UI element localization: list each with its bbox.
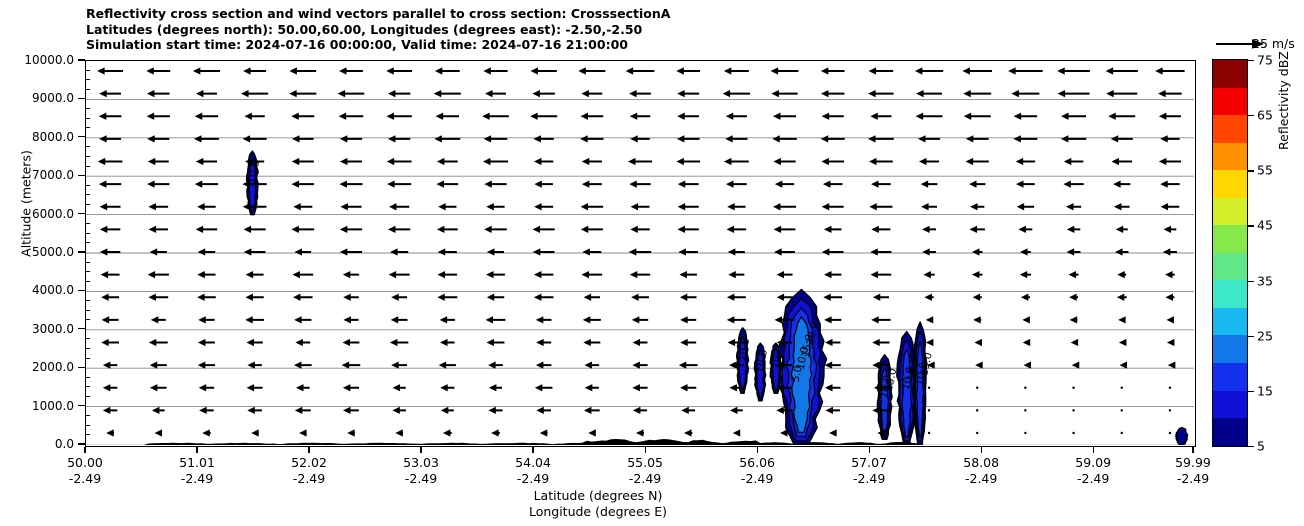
wind-vector — [684, 429, 692, 436]
colorbar-tick — [1248, 391, 1254, 392]
wind-vector — [244, 248, 266, 255]
y-tick-minor — [85, 118, 90, 119]
wind-vector — [823, 181, 843, 188]
wind-vector — [147, 90, 170, 97]
x-tick-longitude: -2.49 — [515, 471, 551, 487]
wind-vector — [915, 67, 943, 74]
wind-vector — [727, 226, 747, 233]
wind-vector — [1111, 135, 1133, 142]
colorbar-band — [1213, 253, 1247, 281]
wind-vector — [680, 294, 697, 301]
wind-vector — [822, 203, 844, 210]
colorbar-band — [1213, 391, 1247, 419]
wind-vector — [972, 248, 983, 255]
colorbar-band — [1213, 115, 1247, 143]
wind-vector — [868, 135, 894, 142]
y-tick-minor — [85, 281, 90, 282]
wind-vector — [963, 90, 991, 97]
wind-vector — [628, 158, 652, 165]
wind-vector — [343, 339, 360, 346]
wind-vector — [581, 90, 602, 97]
wind-vector — [247, 384, 263, 391]
wind-vector — [1016, 158, 1035, 165]
wind-vector — [243, 67, 266, 74]
chart-title-block: Reflectivity cross section and wind vect… — [86, 6, 1186, 53]
wind-vector — [533, 226, 555, 233]
wind-vector — [101, 339, 119, 346]
wind-vector — [147, 181, 169, 188]
wind-vector — [630, 113, 651, 120]
wind-vector — [630, 226, 649, 233]
wind-vector — [1024, 362, 1031, 369]
wind-vector — [488, 407, 502, 414]
wind-vector — [393, 384, 406, 391]
wind-vector — [241, 90, 268, 97]
wind-vector-negligible — [1121, 409, 1123, 411]
wind-vector — [631, 203, 650, 210]
x-tick-label-group: 58.08-2.49 — [963, 455, 999, 487]
wind-vector — [150, 248, 167, 255]
wind-vector — [243, 135, 267, 142]
wind-vector — [435, 67, 460, 74]
wind-vector — [578, 67, 605, 74]
y-tick-minor — [85, 242, 90, 243]
wind-vector — [387, 181, 411, 188]
wind-vector-negligible — [1169, 387, 1171, 389]
wind-vector — [677, 90, 699, 97]
wind-vector — [99, 135, 121, 142]
wind-vector — [924, 294, 933, 301]
wind-vector — [868, 90, 894, 97]
wind-vector — [292, 271, 313, 278]
wind-vector — [102, 316, 119, 323]
wind-vector — [196, 226, 218, 233]
wind-vector — [582, 158, 602, 165]
wind-vector — [534, 203, 553, 210]
colorbar-band — [1213, 88, 1247, 116]
colorbar-band — [1213, 418, 1247, 446]
wind-vector — [825, 407, 840, 414]
y-tick-minor — [85, 434, 90, 435]
wind-vector — [245, 316, 264, 323]
wind-vector — [292, 135, 314, 142]
wind-vector — [726, 113, 747, 120]
colorbar-tick — [1248, 336, 1254, 337]
wind-vector — [633, 407, 647, 414]
x-tick-label-group: 59.99-2.49 — [1175, 455, 1211, 487]
wind-vector — [1165, 271, 1175, 278]
wind-vector — [484, 181, 506, 188]
y-tick-mark — [78, 175, 85, 176]
y-tick-label: 9000.0 — [0, 91, 74, 105]
y-tick-label: 0.0 — [0, 437, 74, 451]
wind-vector — [923, 271, 934, 278]
wind-vector-negligible — [928, 409, 930, 411]
wind-vector — [340, 203, 361, 210]
wind-vector — [727, 203, 745, 210]
wind-vector — [247, 362, 261, 369]
wind-vector — [149, 339, 168, 346]
wind-vector — [98, 158, 123, 165]
wind-vector — [484, 226, 507, 233]
y-tick-mark — [78, 98, 85, 99]
wind-vector — [1016, 181, 1035, 188]
wind-vector — [198, 339, 215, 346]
y-tick-minor — [85, 425, 90, 426]
y-tick-mark — [78, 59, 85, 60]
wind-vector — [1018, 226, 1032, 233]
y-tick-minor — [85, 233, 90, 234]
wind-vector — [733, 429, 741, 436]
x-tick-longitude: -2.49 — [963, 471, 999, 487]
wind-vector — [196, 158, 217, 165]
wind-vector — [922, 248, 936, 255]
colorbar-tick-label: 5 — [1257, 438, 1265, 453]
wind-vector — [966, 158, 989, 165]
wind-vector — [825, 339, 840, 346]
x-tick-mark — [757, 447, 758, 453]
wind-vector — [1165, 294, 1174, 301]
y-tick-minor — [85, 89, 90, 90]
title-line-3: Simulation start time: 2024-07-16 00:00:… — [86, 37, 1186, 53]
wind-vector — [389, 203, 409, 210]
wind-vector — [1067, 248, 1081, 255]
y-tick-minor — [85, 70, 90, 71]
wind-vector — [389, 271, 410, 278]
wind-vector — [100, 203, 121, 210]
x-tick-mark — [1192, 447, 1193, 453]
y-tick-minor — [85, 223, 90, 224]
wind-vector — [583, 339, 600, 346]
wind-vector — [584, 407, 600, 414]
wind-vector — [343, 294, 358, 301]
x-tick-label-group: 53.03-2.49 — [403, 455, 439, 487]
wind-vector — [1115, 248, 1129, 255]
wind-vector — [386, 67, 412, 74]
wind-vector — [821, 135, 845, 142]
wind-vector — [340, 135, 362, 142]
x-tick-latitude: 59.09 — [1075, 455, 1111, 471]
x-tick-latitude: 56.06 — [739, 455, 775, 471]
x-tick-label-group: 54.04-2.49 — [515, 455, 551, 487]
x-tick-latitude: 57.07 — [851, 455, 887, 471]
y-tick-minor — [85, 185, 90, 186]
wind-vector — [535, 384, 553, 391]
y-tick-minor — [85, 319, 90, 320]
y-tick-minor — [85, 146, 90, 147]
wind-vector — [339, 181, 362, 188]
wind-vector-negligible — [1072, 432, 1074, 434]
x-tick-latitude: 55.05 — [627, 455, 663, 471]
wind-vector — [437, 294, 457, 301]
x-tick-mark — [84, 447, 85, 453]
wind-vector — [440, 384, 454, 391]
wind-vector — [487, 248, 504, 255]
y-tick-mark — [78, 213, 85, 214]
wind-vector — [869, 203, 892, 210]
y-tick-minor — [85, 348, 90, 349]
wind-vector — [151, 316, 166, 323]
wind-vector — [1020, 271, 1031, 278]
wind-vector — [1023, 339, 1031, 346]
wind-vector — [726, 181, 747, 188]
wind-vector — [148, 294, 168, 301]
wind-vector — [869, 158, 893, 165]
x-tick-label-group: 52.02-2.49 — [291, 455, 327, 487]
wind-vector — [391, 316, 408, 323]
x-tick-longitude: -2.49 — [1175, 471, 1211, 487]
wind-vector — [100, 226, 121, 233]
wind-vector — [436, 181, 458, 188]
y-tick-label: 2000.0 — [0, 360, 74, 374]
wind-vector — [1160, 181, 1180, 188]
wind-vector — [1008, 67, 1043, 74]
wind-vector-negligible — [1121, 432, 1123, 434]
wind-vector — [821, 67, 845, 74]
wind-vector — [388, 226, 410, 233]
wind-vector — [728, 248, 745, 255]
wind-vector — [195, 181, 218, 188]
colorbar-band — [1213, 170, 1247, 198]
wind-vector — [246, 339, 262, 346]
y-tick-label: 5000.0 — [0, 245, 74, 259]
wind-vector — [1119, 339, 1127, 346]
wind-vector — [1061, 135, 1086, 142]
wind-vector — [821, 90, 845, 97]
wind-vector — [916, 113, 943, 120]
wind-vector — [1167, 339, 1175, 346]
wind-vector — [482, 113, 509, 120]
wind-vector — [244, 226, 266, 233]
x-tick-mark — [196, 447, 197, 453]
wind-vector — [972, 271, 983, 278]
wind-vector — [293, 294, 313, 301]
x-tick-longitude: -2.49 — [851, 471, 887, 487]
wind-vector — [440, 316, 455, 323]
wind-vector — [391, 294, 407, 301]
wind-vector — [1106, 67, 1138, 74]
wind-vector — [193, 67, 220, 74]
title-line-1: Reflectivity cross section and wind vect… — [86, 6, 1186, 22]
colorbar-tick — [1248, 446, 1254, 447]
wind-vector — [583, 316, 601, 323]
wind-vector — [434, 90, 461, 97]
wind-vector-negligible — [976, 387, 978, 389]
wind-vector — [289, 90, 316, 97]
wind-vector — [774, 248, 795, 255]
y-tick-minor — [85, 156, 90, 157]
wind-vector — [1111, 158, 1132, 165]
x-tick-label-group: 59.09-2.49 — [1075, 455, 1111, 487]
wind-vector — [1022, 316, 1029, 323]
wind-vector — [155, 429, 163, 436]
wind-vector — [196, 90, 217, 97]
wind-vector — [197, 294, 216, 301]
wind-vector — [824, 316, 841, 323]
wind-vector — [530, 67, 556, 74]
x-tick-latitude: 58.08 — [963, 455, 999, 471]
wind-vector — [388, 135, 410, 142]
x-tick-latitude: 50.00 — [67, 455, 103, 471]
wind-vector-negligible — [1024, 387, 1026, 389]
wind-vector — [99, 90, 121, 97]
y-tick-label: 1000.0 — [0, 399, 74, 413]
wind-vector — [723, 90, 750, 97]
wind-vector — [1113, 181, 1130, 188]
wind-vector — [921, 203, 937, 210]
x-tick-mark — [532, 447, 533, 453]
wind-vector — [540, 429, 548, 436]
x-tick-mark — [420, 447, 421, 453]
x-tick-latitude: 59.99 — [1175, 455, 1211, 471]
y-tick-minor — [85, 338, 90, 339]
wind-vector — [676, 67, 700, 74]
wind-vector — [99, 113, 122, 120]
wind-vector — [533, 135, 553, 142]
wind-vector — [293, 203, 312, 210]
wind-vector — [585, 384, 599, 391]
wind-vector — [443, 429, 452, 436]
x-tick-latitude: 51.01 — [179, 455, 215, 471]
y-tick-mark — [78, 290, 85, 291]
wind-vector — [299, 429, 307, 436]
wind-vector — [347, 429, 355, 436]
wind-vector — [1116, 226, 1128, 233]
colorbar-title: Reflectivity dBZ — [1276, 0, 1291, 150]
wind-vector — [395, 429, 403, 436]
colorbar-band — [1213, 280, 1247, 308]
wind-vector — [1159, 113, 1181, 120]
wind-vector — [339, 113, 364, 120]
wind-vector — [103, 384, 117, 391]
wind-vector — [534, 294, 554, 301]
wind-vector — [1164, 226, 1177, 233]
x-tick-longitude: -2.49 — [179, 471, 215, 487]
wind-vector — [536, 407, 551, 414]
wind-vector — [632, 316, 648, 323]
wind-vector — [292, 181, 314, 188]
y-tick-minor — [85, 415, 90, 416]
wind-vector — [970, 203, 984, 210]
wind-vector — [633, 339, 648, 346]
wind-vector — [1011, 90, 1039, 97]
x-tick-longitude: -2.49 — [627, 471, 663, 487]
x-axis-label-latitude: Latitude (degrees N) — [0, 488, 1196, 503]
wind-vector — [1069, 271, 1079, 278]
wind-vector — [581, 271, 602, 278]
wind-vector — [1072, 362, 1080, 369]
wind-vector — [147, 113, 170, 120]
wind-vector — [825, 362, 841, 369]
colorbar-tick-label: 55 — [1257, 163, 1273, 178]
wind-vector — [677, 226, 698, 233]
wind-vector — [1120, 362, 1128, 369]
wind-vector-negligible — [1072, 387, 1074, 389]
wind-vector — [392, 407, 406, 414]
wind-vector — [202, 429, 210, 436]
wind-vector — [922, 226, 936, 233]
x-tick-label-group: 51.01-2.49 — [179, 455, 215, 487]
wind-vector — [873, 294, 889, 301]
wind-vector — [291, 226, 314, 233]
wind-vector — [391, 362, 407, 369]
wind-vector — [342, 362, 361, 369]
colorbar-tick-label: 35 — [1257, 273, 1273, 288]
wind-vector — [199, 384, 214, 391]
x-tick-label-group: 56.06-2.49 — [739, 455, 775, 487]
wind-vector — [387, 158, 412, 165]
reflectivity-contour-band — [1176, 428, 1188, 445]
wind-vector — [1063, 181, 1083, 188]
wind-vector — [1166, 316, 1174, 323]
wind-vector — [728, 271, 744, 278]
wind-vector — [147, 135, 169, 142]
colorbar-tick — [1248, 115, 1254, 116]
x-tick-latitude: 54.04 — [515, 455, 551, 471]
wind-vector — [773, 113, 796, 120]
wind-vector — [964, 113, 991, 120]
chart-root: Reflectivity cross section and wind vect… — [0, 0, 1304, 526]
wind-vector — [486, 271, 505, 278]
wind-vector — [725, 135, 747, 142]
wind-vector — [292, 158, 314, 165]
colorbar-gradient — [1212, 59, 1248, 447]
wind-vector — [776, 271, 792, 278]
wind-vector — [1114, 203, 1130, 210]
wind-vector — [632, 362, 647, 369]
wind-vector — [390, 339, 408, 346]
wind-vector — [1071, 339, 1079, 346]
wind-vector — [488, 362, 503, 369]
wind-vector — [340, 158, 362, 165]
wind-vector — [534, 271, 553, 278]
wind-vector — [536, 339, 551, 346]
wind-vector — [676, 158, 700, 165]
wind-vector — [534, 158, 553, 165]
wind-vector — [150, 362, 167, 369]
wind-vector — [103, 407, 118, 414]
y-tick-mark — [78, 328, 85, 329]
colorbar-tick — [1248, 60, 1254, 61]
wind-vector — [97, 67, 123, 74]
wind-vector — [1014, 113, 1037, 120]
wind-vector — [487, 339, 505, 346]
wind-vector — [246, 271, 264, 278]
wind-vector — [1159, 158, 1181, 165]
wind-vector — [632, 384, 647, 391]
y-tick-minor — [85, 386, 90, 387]
wind-vector — [388, 90, 410, 97]
wind-vector — [438, 203, 456, 210]
wind-vector — [774, 226, 796, 233]
wind-vector-negligible — [1072, 409, 1074, 411]
wind-vector — [1117, 294, 1127, 301]
wind-vector — [871, 181, 891, 188]
wind-vector — [483, 158, 508, 165]
wind-vector — [146, 67, 170, 74]
wind-vector — [679, 271, 697, 278]
wind-vector — [148, 203, 168, 210]
wind-vector — [343, 407, 359, 414]
y-tick-minor — [85, 271, 90, 272]
wind-vector — [580, 113, 603, 120]
x-tick-longitude: -2.49 — [291, 471, 327, 487]
wind-vector — [195, 113, 218, 120]
wind-vector — [1013, 135, 1037, 142]
y-tick-label: 8000.0 — [0, 130, 74, 144]
wind-vector — [148, 271, 169, 278]
wind-vector — [822, 113, 844, 120]
